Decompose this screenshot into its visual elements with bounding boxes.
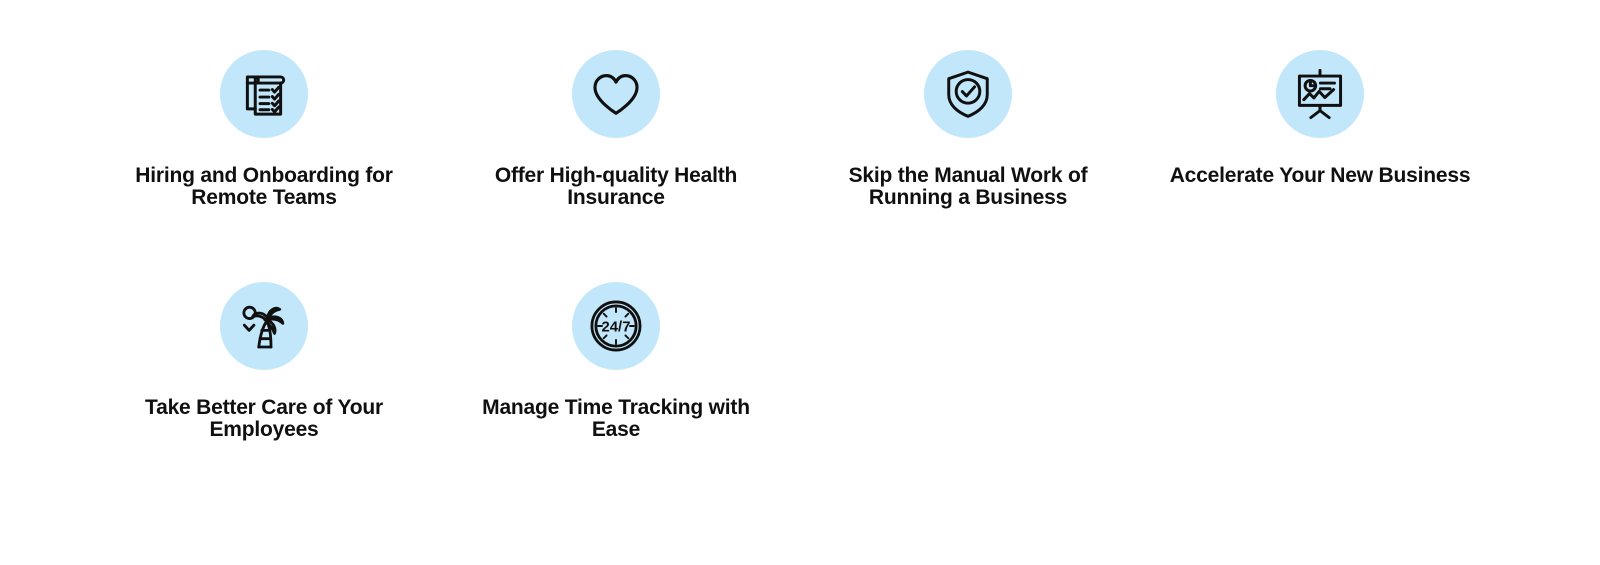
- feature-card-hiring-onboarding-remote-teams[interactable]: Hiring and Onboarding for Remote Teams: [88, 0, 440, 232]
- icon-badge: [220, 282, 308, 370]
- feature-card-skip-manual-work[interactable]: Skip the Manual Work of Running a Busine…: [792, 0, 1144, 232]
- feature-label: Accelerate Your New Business: [1165, 165, 1475, 187]
- feature-card-high-quality-health-insurance[interactable]: Offer High-quality Health Insurance: [440, 0, 792, 232]
- feature-card-accelerate-new-business[interactable]: Accelerate Your New Business: [1144, 0, 1496, 232]
- icon-badge: 24/7: [572, 282, 660, 370]
- icon-badge: [220, 50, 308, 138]
- heart-icon: [588, 66, 644, 122]
- feature-label: Manage Time Tracking with Ease: [461, 397, 771, 441]
- clipboard-checklist-icon: [236, 66, 292, 122]
- feature-label: Hiring and Onboarding for Remote Teams: [109, 165, 419, 209]
- palm-tree-icon: [236, 298, 292, 354]
- shield-check-icon: [940, 66, 996, 122]
- feature-label: Offer High-quality Health Insurance: [461, 165, 771, 209]
- feature-card-manage-time-tracking[interactable]: 24/7 Manage Time Tracking with Ease: [440, 232, 792, 464]
- feature-grid: Hiring and Onboarding for Remote Teams O…: [0, 0, 1600, 565]
- clock-icon-text: 24/7: [602, 320, 631, 336]
- icon-badge: [1276, 50, 1364, 138]
- feature-card-take-better-care-of-employees[interactable]: Take Better Care of Your Employees: [88, 232, 440, 464]
- presentation-chart-icon: [1292, 66, 1348, 122]
- clock-24-7-icon: 24/7: [588, 298, 644, 354]
- feature-label: Skip the Manual Work of Running a Busine…: [813, 165, 1123, 209]
- icon-badge: [572, 50, 660, 138]
- feature-label: Take Better Care of Your Employees: [109, 397, 419, 441]
- icon-badge: [924, 50, 1012, 138]
